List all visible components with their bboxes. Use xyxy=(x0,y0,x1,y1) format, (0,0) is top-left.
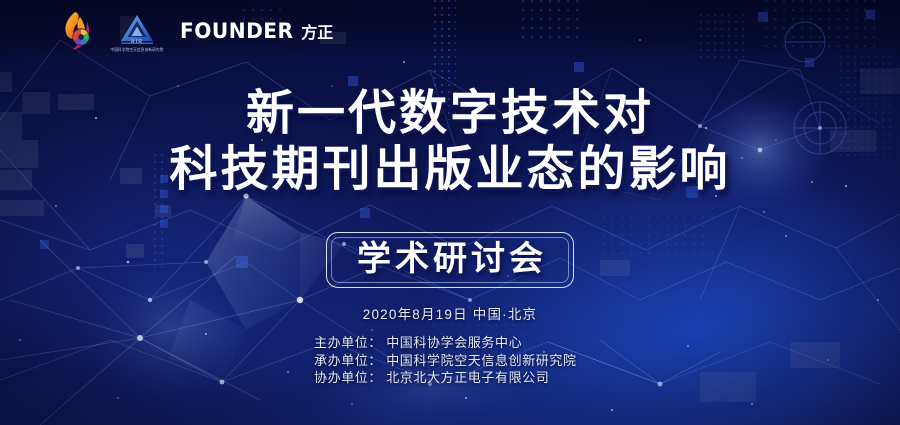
founder-logo-cn: 方正 xyxy=(301,26,333,42)
air-logo-caption: 中国科学院空天信息创新研究院 xyxy=(108,48,166,54)
conference-poster: AIR 中国科学院空天信息创新研究院 Founder 方正 新一代数字技术对 科… xyxy=(0,0,900,425)
poster-title: 新一代数字技术对 科技期刊出版业态的影响 xyxy=(0,86,900,198)
date-location-line: 2020年8月19日 中国·北京 xyxy=(0,303,900,323)
founder-logo: Founder 方正 xyxy=(180,21,333,42)
organizer-coorganizer: 协办单位： 北京北大方正电子有限公司 xyxy=(314,369,586,387)
air-logo-word: AIR xyxy=(108,39,166,45)
founder-logo-word: Founder xyxy=(180,21,294,42)
title-line-1: 新一代数字技术对 xyxy=(0,86,900,142)
subtitle-frame: 学术研讨会 xyxy=(326,232,574,288)
organizer-undertaker: 承办单位： 中国科学院空天信息创新研究院 xyxy=(314,352,586,370)
cast-flame-logo xyxy=(54,8,102,54)
air-logo: AIR 中国科学院空天信息创新研究院 xyxy=(108,8,166,54)
poster-subtitle: 学术研讨会 xyxy=(0,232,900,288)
header-logo-bar: AIR 中国科学院空天信息创新研究院 Founder 方正 xyxy=(54,8,333,54)
organizer-list: 主办单位： 中国科协学会服务中心 承办单位： 中国科学院空天信息创新研究院 协办… xyxy=(0,334,900,387)
organizer-host: 主办单位： 中国科协学会服务中心 xyxy=(314,334,586,352)
subtitle-text: 学术研讨会 xyxy=(353,239,547,279)
title-line-2: 科技期刊出版业态的影响 xyxy=(0,142,900,198)
